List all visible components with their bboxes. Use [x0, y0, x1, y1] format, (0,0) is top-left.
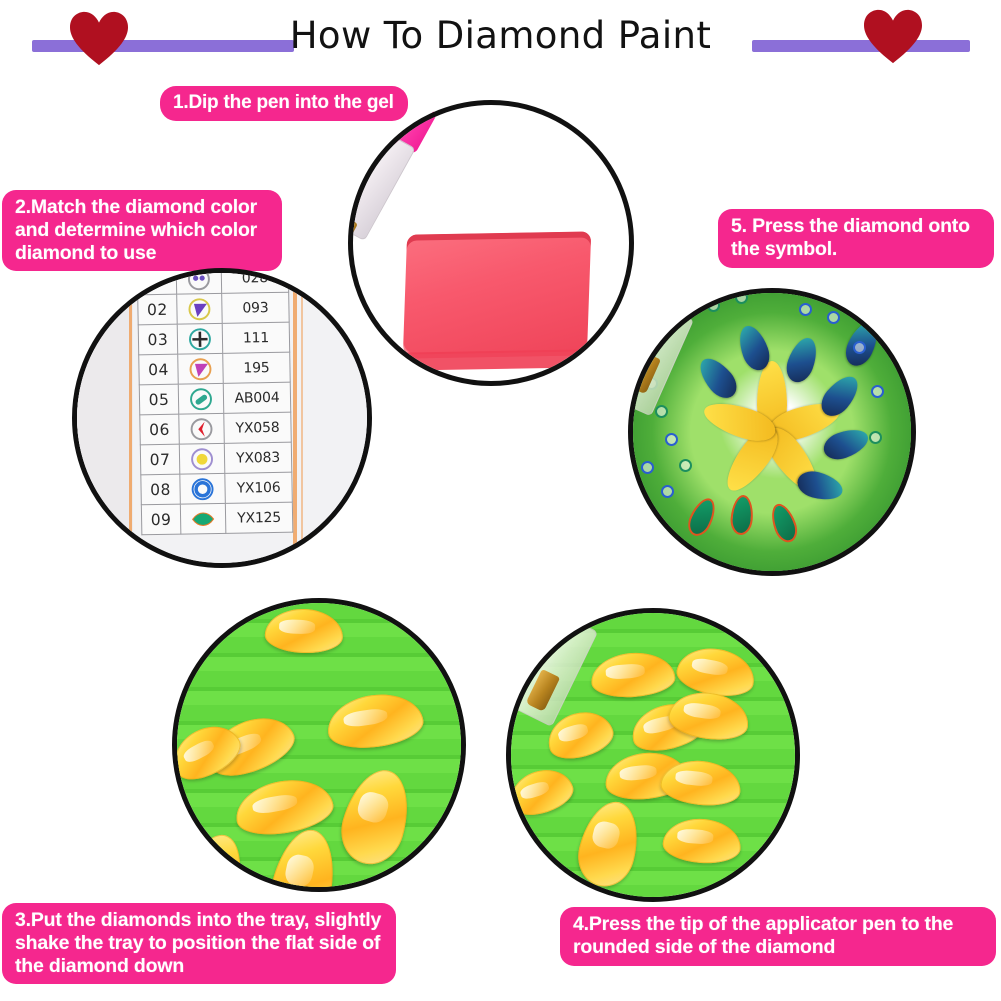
color-chart-row: 03111: [138, 322, 290, 355]
chart-margin-line: [129, 273, 132, 563]
chart-margin-line: [293, 273, 297, 563]
chart-index-cell: 07: [140, 444, 180, 475]
printed-symbol-dot: [869, 431, 882, 444]
step-2-photo: 02802093031110419505AB00406YX05807YX0830…: [72, 268, 372, 568]
printed-symbol-dot: [661, 485, 674, 498]
color-chart-row: 09YX125: [141, 502, 293, 535]
chart-index-cell: [137, 268, 177, 295]
chart-code-cell: 111: [222, 322, 290, 353]
chart-code-cell: 195: [223, 352, 291, 383]
chart-index-cell: 08: [141, 474, 181, 505]
chart-index-cell: 02: [138, 294, 178, 325]
color-chart-table: 02802093031110419505AB00406YX05807YX0830…: [137, 268, 294, 535]
step-4-photo: [506, 608, 800, 902]
chart-code-cell: 028: [221, 268, 289, 293]
chart-index-cell: 06: [140, 414, 180, 445]
chart-index-cell: 05: [139, 384, 179, 415]
printed-symbol-dot: [871, 385, 884, 398]
color-chart-row: 028: [137, 268, 289, 295]
gel-pad: [403, 231, 591, 358]
step-5-photo: [628, 288, 916, 576]
chart-index-cell: 04: [139, 354, 179, 385]
step-1-photo: [348, 100, 634, 386]
infographic-canvas: How To Diamond Paint 1.Dip the pen into …: [0, 0, 1001, 1001]
step-4-label: 4.Press the tip of the applicator pen to…: [560, 907, 996, 966]
color-chart-row: 04195: [139, 352, 291, 385]
chart-index-cell: 09: [141, 504, 181, 535]
color-chart-row: 06YX058: [140, 412, 292, 445]
color-chart-row: 05AB004: [139, 382, 291, 415]
printed-symbol-dot: [735, 291, 748, 304]
step-3-label: 3.Put the diamonds into the tray, slight…: [2, 903, 396, 984]
color-chart-row: 08YX106: [141, 472, 293, 505]
printed-symbol-dot: [853, 341, 866, 354]
printed-symbol-dot: [827, 311, 840, 324]
printed-symbol-dot: [665, 433, 678, 446]
chart-code-cell: YX125: [225, 502, 293, 533]
triangle-symbol-icon: [178, 353, 224, 384]
step-5-label: 5. Press the diamond onto the symbol.: [718, 209, 994, 268]
chart-code-cell: YX083: [224, 442, 292, 473]
triangle-symbol-icon: [177, 293, 223, 324]
chart-margin-line: [301, 273, 303, 563]
color-chart-row: 02093: [138, 292, 290, 325]
circle-dot-symbol-icon: [179, 443, 225, 474]
color-chart-row: 07YX083: [140, 442, 292, 475]
ring-symbol-icon: [180, 473, 226, 504]
chart-code-cell: YX058: [224, 412, 292, 443]
chart-code-cell: YX106: [225, 472, 293, 503]
printed-symbol-dot: [707, 299, 720, 312]
printed-symbol-dot: [679, 459, 692, 472]
step-2-label: 2.Match the diamond color and determine …: [2, 190, 282, 271]
capsule-symbol-icon: [178, 383, 224, 414]
arrow-left-symbol-icon: [179, 413, 225, 444]
printed-symbol-dot: [799, 303, 812, 316]
chart-code-cell: 093: [222, 292, 290, 323]
pen-body: [348, 127, 416, 241]
printed-symbol-dot: [641, 461, 654, 474]
plus-symbol-icon: [177, 323, 223, 354]
eyes-symbol-icon: [176, 268, 222, 294]
page-title: How To Diamond Paint: [0, 14, 1001, 57]
leaf-symbol-icon: [180, 503, 226, 534]
chart-index-cell: 03: [138, 324, 178, 355]
step-3-photo: [172, 598, 466, 892]
chart-code-cell: AB004: [223, 382, 291, 413]
